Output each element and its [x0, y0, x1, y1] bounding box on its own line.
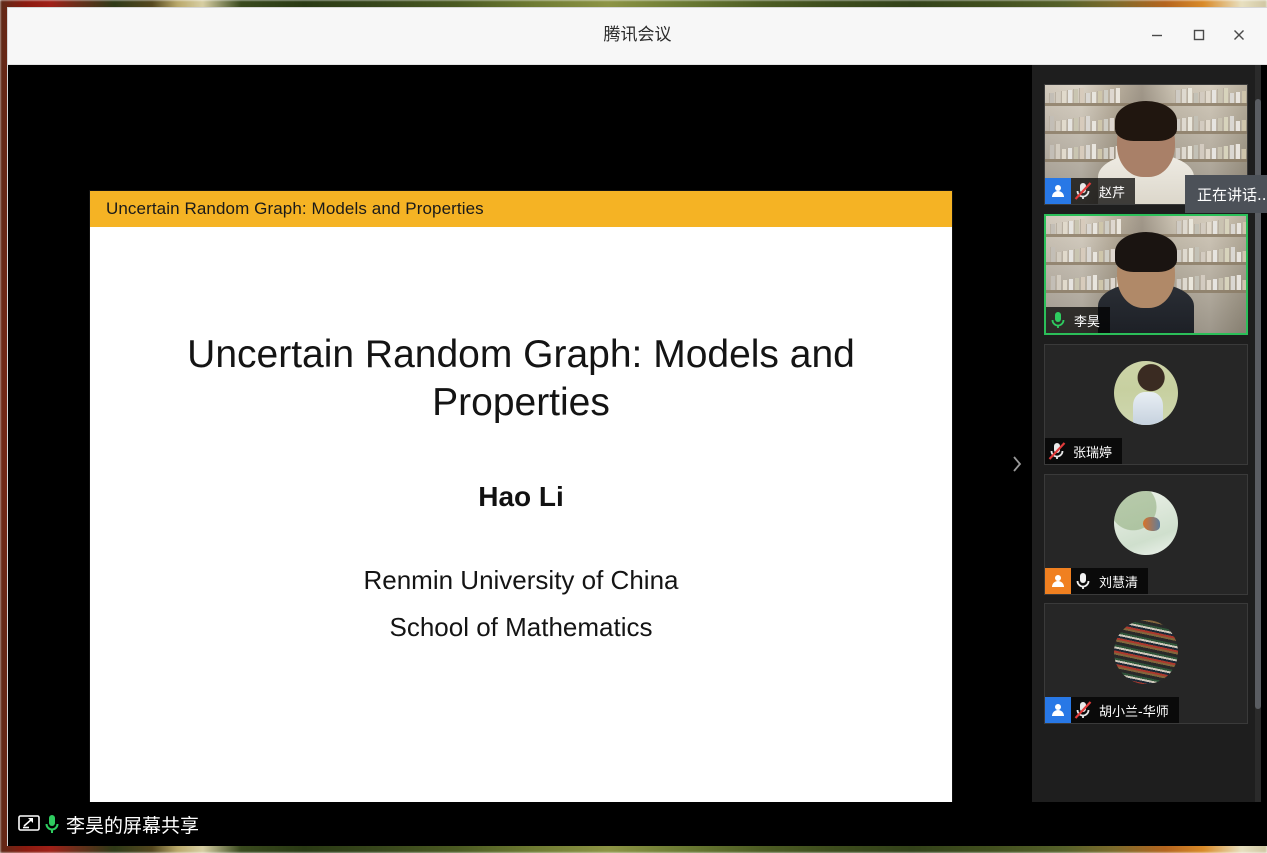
mic-muted-icon — [1071, 178, 1095, 204]
slide-header-banner: Uncertain Random Graph: Models and Prope… — [90, 191, 952, 227]
participant-tile[interactable]: 刘慧清 — [1044, 474, 1248, 595]
participant-namebar: 张瑞婷 — [1045, 438, 1122, 464]
avatar — [1114, 491, 1178, 555]
participant-tile[interactable]: 胡小兰-华师 — [1044, 603, 1248, 724]
screen-share-label: 李昊的屏幕共享 — [66, 811, 199, 838]
participant-tile[interactable]: 李昊 — [1044, 214, 1248, 335]
tencent-meeting-window: 腾讯会议 Uncertain Random Graph: Models and … — [8, 8, 1267, 845]
screen-share-status-bar: 李昊的屏幕共享 — [8, 802, 1261, 846]
participant-name: 刘慧清 — [1099, 572, 1138, 591]
participant-name: 李昊 — [1074, 311, 1100, 330]
slide-header-text: Uncertain Random Graph: Models and Prope… — [106, 199, 484, 219]
slide-content: Uncertain Random Graph: Models and Prope… — [90, 227, 952, 813]
minimize-button[interactable] — [1139, 18, 1175, 52]
participant-name: 胡小兰-华师 — [1099, 701, 1169, 720]
mic-active-icon — [1046, 307, 1070, 333]
meeting-body: Uncertain Random Graph: Models and Prope… — [8, 65, 1267, 846]
screen-share-icon — [18, 815, 40, 833]
avatar — [1114, 361, 1178, 425]
participant-namebar: 赵芹 — [1045, 178, 1135, 204]
slide-title: Uncertain Random Graph: Models and Prope… — [171, 331, 871, 427]
speaking-tooltip: 正在讲话... — [1185, 175, 1267, 213]
slide-affiliation-university: Renmin University of China — [363, 565, 678, 596]
slide-author: Hao Li — [478, 481, 564, 513]
participant-namebar: 李昊 — [1046, 307, 1110, 333]
participant-name: 张瑞婷 — [1073, 442, 1112, 461]
mic-muted-icon — [1071, 697, 1095, 723]
title-bar: 腾讯会议 — [8, 8, 1267, 65]
person-icon — [1045, 697, 1071, 723]
maximize-button[interactable] — [1181, 18, 1217, 52]
participant-namebar: 胡小兰-华师 — [1045, 697, 1179, 723]
avatar — [1114, 620, 1178, 684]
close-button[interactable] — [1221, 18, 1257, 52]
person-icon — [1045, 178, 1071, 204]
mic-active-icon — [42, 813, 62, 835]
presentation-slide: Uncertain Random Graph: Models and Prope… — [90, 191, 952, 839]
participant-tile[interactable]: 张瑞婷 — [1044, 344, 1248, 465]
participant-namebar: 刘慧清 — [1045, 568, 1148, 594]
participant-name: 赵芹 — [1099, 182, 1125, 201]
slide-affiliation-school: School of Mathematics — [389, 612, 652, 643]
person-icon — [1045, 568, 1071, 594]
mic-muted-icon — [1045, 438, 1069, 464]
chevron-right-icon[interactable] — [1008, 447, 1026, 481]
screen-share-stage: Uncertain Random Graph: Models and Prope… — [8, 65, 1032, 846]
mic-on-icon — [1071, 568, 1095, 594]
window-title: 腾讯会议 — [8, 8, 1267, 62]
